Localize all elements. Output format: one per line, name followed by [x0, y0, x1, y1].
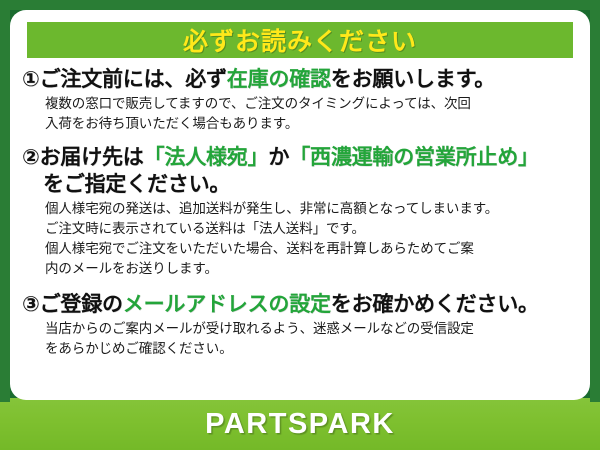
notice-content: ①ご注文前には、必ず在庫の確認をお願いします。 複数の窓口で販売してますので、ご…: [10, 58, 590, 359]
notice-item-3-heading: ③ご登録のメールアドレスの設定をお確かめください。: [22, 292, 578, 318]
notice-item-3: ③ご登録のメールアドレスの設定をお確かめください。 当店からのご案内メールが受け…: [22, 292, 578, 360]
frame-border-top: [0, 0, 600, 10]
notice-item-2-heading-line2: をご指定ください。: [22, 172, 578, 198]
notice-item-3-heading-post: をお確かめください。: [331, 293, 539, 316]
notice-item-2: ②お届け先は「法人様宛」か「西濃運輸の営業所止め」 をご指定ください。 個人様宅…: [22, 145, 578, 280]
frame-border-right: [590, 0, 600, 402]
notice-item-3-body: 当店からのご案内メールが受け取れるよう、迷惑メールなどの受信設定をあらかじめご確…: [22, 319, 578, 360]
notice-item-3-body-line-1: 当店からのご案内メールが受け取れるよう、迷惑メールなどの受信設定: [45, 319, 578, 339]
notice-item-3-heading-highlight: メールアドレスの設定: [123, 293, 331, 316]
notice-item-1-body-line-1: 複数の窓口で販売してますので、ご注文のタイミングによっては、次回: [45, 94, 578, 114]
notice-item-1-body: 複数の窓口で販売してますので、ご注文のタイミングによっては、次回入荷をお待ち頂い…: [22, 94, 578, 135]
notice-panel: 必ずお読みください ①ご注文前には、必ず在庫の確認をお願いします。 複数の窓口で…: [10, 10, 590, 400]
notice-item-1-heading-pre: ご注文前には、必ず: [40, 68, 227, 91]
notice-item-2-body: 個人様宅宛の発送は、追加送料が発生し、非常に高額となってしまいます。ご注文時に表…: [22, 199, 578, 280]
notice-item-2-heading-highlight: 「法人様宛」: [144, 146, 269, 169]
page-title: 必ずお読みください: [183, 22, 417, 58]
notice-item-3-marker: ③: [22, 293, 40, 316]
notice-item-2-body-line-1: 個人様宅宛の発送は、追加送料が発生し、非常に高額となってしまいます。: [45, 199, 578, 219]
notice-item-2-body-line-4: 内のメールをお送りします。: [45, 259, 578, 279]
header-bar: 必ずお読みください: [27, 22, 573, 58]
notice-item-1-body-line-2: 入荷をお待ち頂いただく場合もあります。: [45, 114, 578, 134]
notice-item-2-heading-highlight2: 「西濃運輸の営業所止め」: [289, 146, 539, 169]
notice-item-3-body-line-2: をあらかじめご確認ください。: [45, 339, 578, 359]
footer-bar: PARTSPARK: [0, 398, 600, 450]
notice-item-1-heading-highlight: 在庫の確認: [227, 68, 331, 91]
notice-item-2-heading-pre: お届け先は: [40, 146, 144, 169]
notice-item-1-marker: ①: [22, 68, 40, 91]
notice-item-2-heading: ②お届け先は「法人様宛」か「西濃運輸の営業所止め」: [22, 145, 578, 171]
notice-item-1: ①ご注文前には、必ず在庫の確認をお願いします。 複数の窓口で販売してますので、ご…: [22, 67, 578, 135]
notice-item-2-heading-mid: か: [268, 146, 289, 169]
notice-item-3-heading-pre: ご登録の: [40, 293, 123, 316]
notice-item-2-body-line-2: ご注文時に表示されている送料は「法人送料」です。: [45, 219, 578, 239]
notice-item-1-heading: ①ご注文前には、必ず在庫の確認をお願いします。: [22, 67, 578, 93]
notice-item-1-heading-post: をお願いします。: [331, 68, 495, 91]
brand-logo: PARTSPARK: [205, 408, 395, 441]
notice-item-2-marker: ②: [22, 146, 40, 169]
notice-item-2-body-line-3: 個人様宅宛でご注文をいただいた場合、送料を再計算しあらためてご案: [45, 239, 578, 259]
frame-border-left: [0, 0, 10, 402]
notice-card: 必ずお読みください ①ご注文前には、必ず在庫の確認をお願いします。 複数の窓口で…: [0, 0, 600, 450]
